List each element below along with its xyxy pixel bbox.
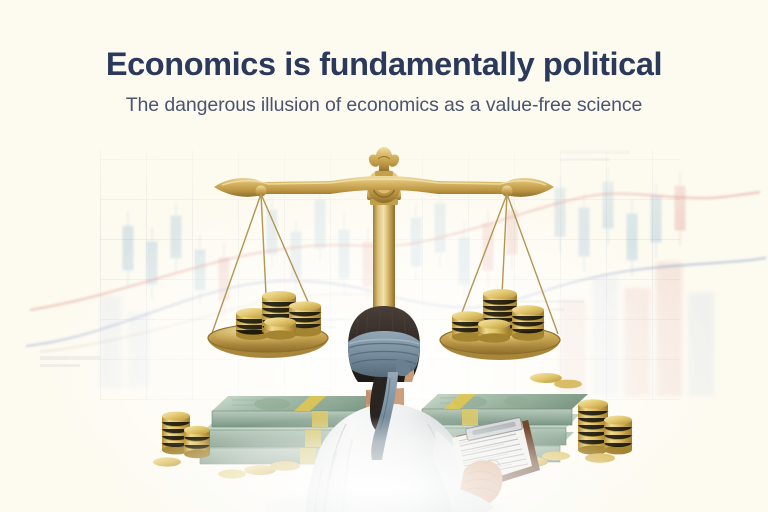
page-title: Economics is fundamentally political	[0, 46, 768, 82]
scale-right-pan-assembly	[440, 194, 560, 360]
coin-stack	[512, 305, 544, 341]
coin-stack	[264, 317, 296, 339]
scale-left-pan-assembly	[208, 194, 328, 358]
header: Economics is fundamentally political The…	[0, 0, 768, 118]
page-subtitle: The dangerous illusion of economics as a…	[0, 94, 768, 117]
right-pan-coins	[452, 289, 544, 343]
floor-haze	[60, 392, 708, 512]
left-pan-coins	[236, 291, 321, 340]
loose-coin	[554, 380, 582, 389]
coin-stack	[478, 319, 510, 343]
poster-canvas: Economics is fundamentally political The…	[0, 0, 768, 512]
scale-finial	[369, 147, 399, 176]
